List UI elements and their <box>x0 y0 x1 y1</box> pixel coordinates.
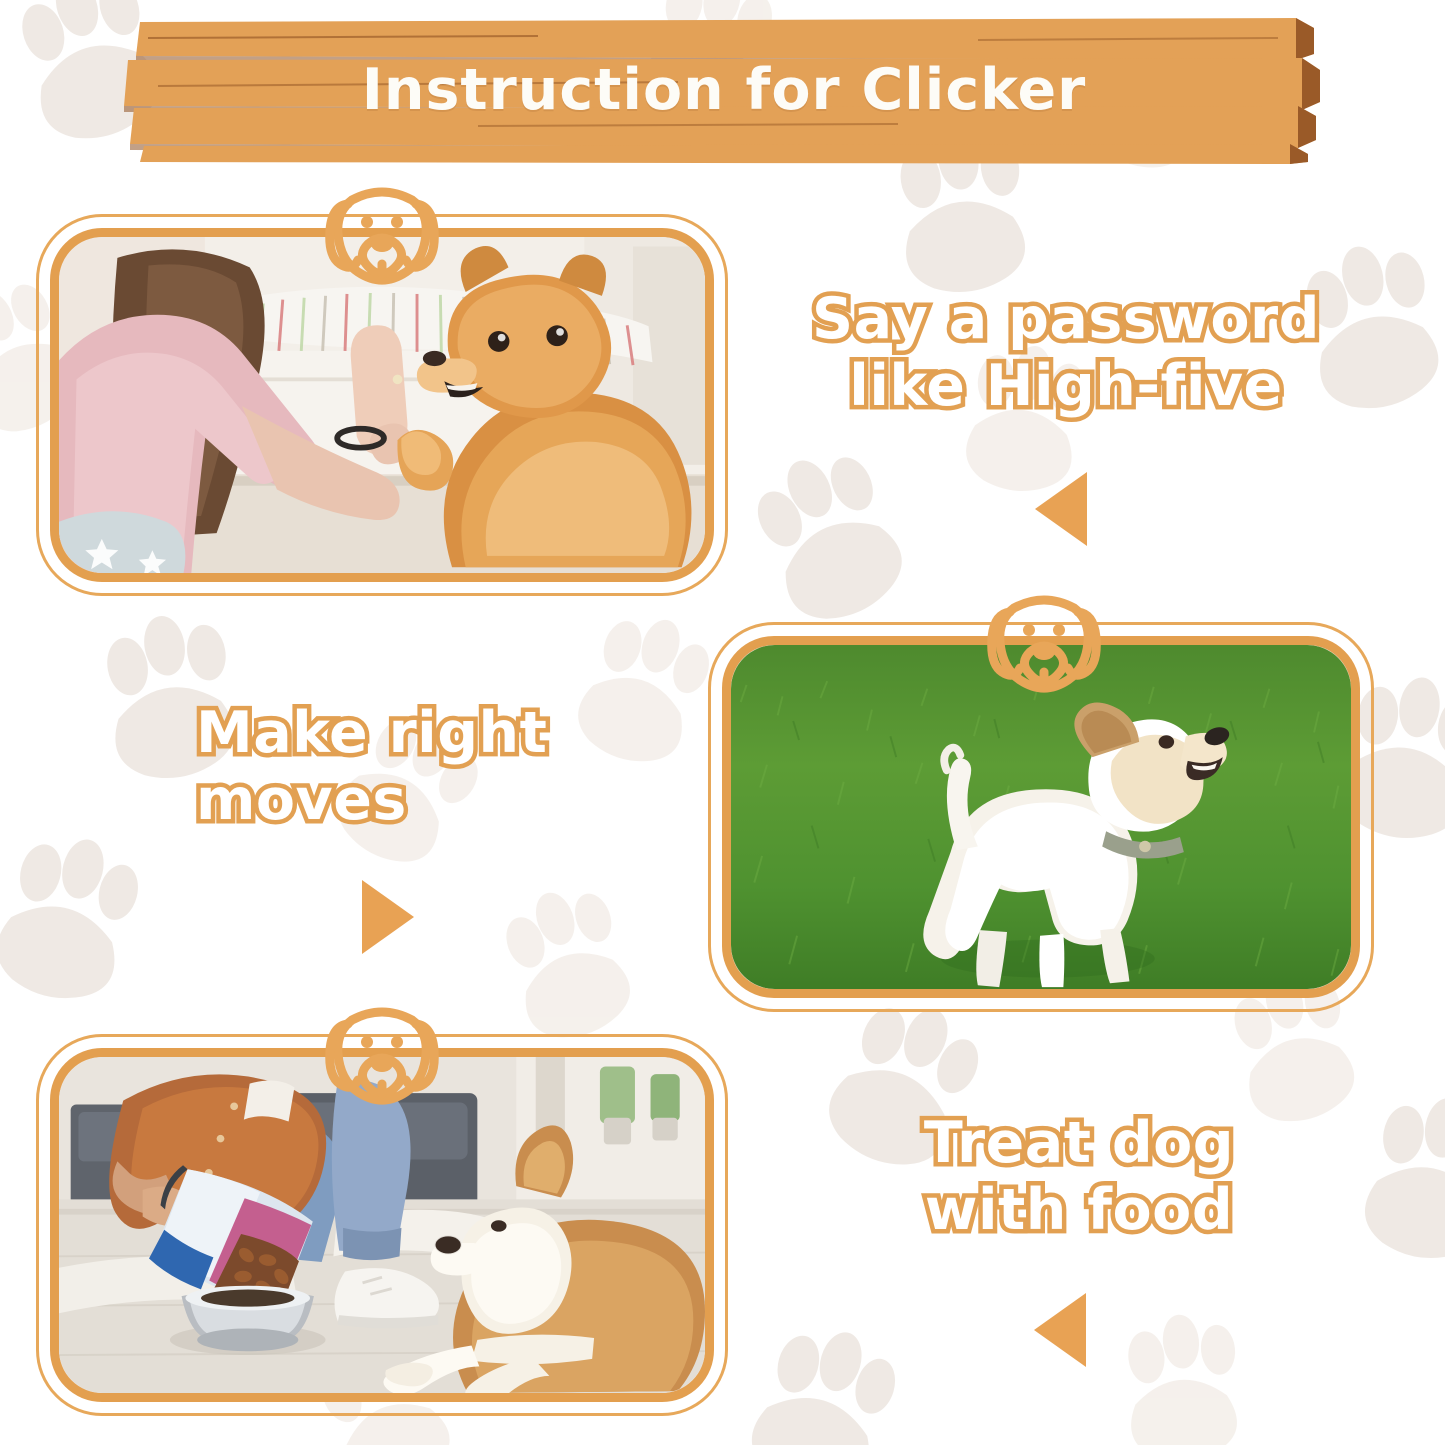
arrow-right-icon-step-2 <box>362 880 414 954</box>
banner-plank: Instruction for Clicker <box>118 16 1330 164</box>
infographic-page: Instruction for Clicker <box>0 0 1445 1445</box>
dog-face-icon <box>974 586 1114 694</box>
step-1-caption: Say a password like High-five <box>786 286 1346 419</box>
photo-woman-high-five-pomeranian <box>59 237 705 573</box>
arrow-left-icon-step-1 <box>1035 472 1087 546</box>
page-title: Instruction for Clicker <box>118 16 1330 164</box>
photo-frame-step-2 <box>708 622 1374 1012</box>
photo-frame-step-3 <box>36 1034 728 1416</box>
arrow-left-icon-step-3 <box>1034 1293 1086 1367</box>
photo-frame-step-1 <box>36 214 728 596</box>
step-2-caption: Make right moves <box>196 700 636 833</box>
dog-face-icon <box>312 178 452 286</box>
photo-pouring-kibble-for-akita <box>59 1057 705 1393</box>
photo-jack-russell-on-grass <box>731 645 1351 989</box>
step-3-caption: Treat dog with food <box>884 1110 1274 1243</box>
dog-face-icon <box>312 998 452 1106</box>
